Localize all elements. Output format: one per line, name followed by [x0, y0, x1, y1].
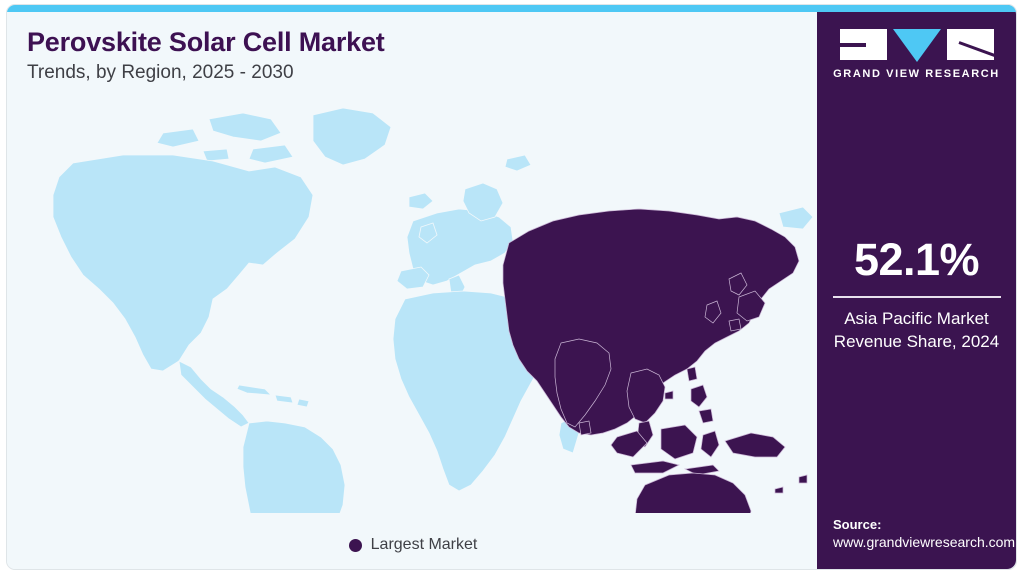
- logo-r-icon: [947, 29, 994, 60]
- stat-caption: Asia Pacific Market Revenue Share, 2024: [817, 308, 1016, 354]
- legend: Largest Market: [7, 536, 819, 554]
- world-map-svg: [13, 93, 819, 513]
- page-subtitle: Trends, by Region, 2025 - 2030: [27, 62, 787, 85]
- stat-caption-line-2: Revenue Share, 2024: [817, 331, 1016, 354]
- legend-marker-icon: [349, 539, 362, 552]
- region-japan-kyushu: [729, 319, 741, 331]
- page-title: Perovskite Solar Cell Market: [27, 27, 787, 58]
- world-map: [13, 93, 819, 513]
- source-url[interactable]: www.grandviewresearch.com: [833, 533, 1008, 552]
- logo-wordmark: GRAND VIEW RESEARCH: [817, 68, 1016, 80]
- top-accent-bar: [7, 5, 1016, 12]
- brand-logo[interactable]: GRAND VIEW RESEARCH: [817, 29, 1016, 80]
- region-taiwan: [687, 367, 697, 381]
- stat-divider: [833, 296, 1001, 298]
- heading-block: Perovskite Solar Cell Market Trends, by …: [27, 27, 787, 85]
- source-block: Source: www.grandviewresearch.com: [833, 516, 1008, 552]
- logo-g-icon: [840, 29, 887, 60]
- logo-v-triangle-icon: [893, 29, 941, 62]
- legend-item-label: Largest Market: [371, 536, 478, 554]
- map-pane: Perovskite Solar Cell Market Trends, by …: [7, 5, 819, 569]
- infographic-card: Perovskite Solar Cell Market Trends, by …: [6, 4, 1017, 570]
- stat-caption-line-1: Asia Pacific Market: [817, 308, 1016, 331]
- infographic-root: Perovskite Solar Cell Market Trends, by …: [0, 0, 1025, 576]
- logo-marks: [817, 29, 1016, 60]
- region-sri-lanka: [579, 421, 591, 435]
- stat-value: 52.1%: [817, 237, 1016, 282]
- stat-block: 52.1% Asia Pacific Market Revenue Share,…: [817, 237, 1016, 354]
- side-panel: GRAND VIEW RESEARCH 52.1% Asia Pacific M…: [817, 5, 1016, 569]
- region-arctic-island-4: [203, 149, 229, 161]
- source-label: Source:: [833, 516, 1008, 534]
